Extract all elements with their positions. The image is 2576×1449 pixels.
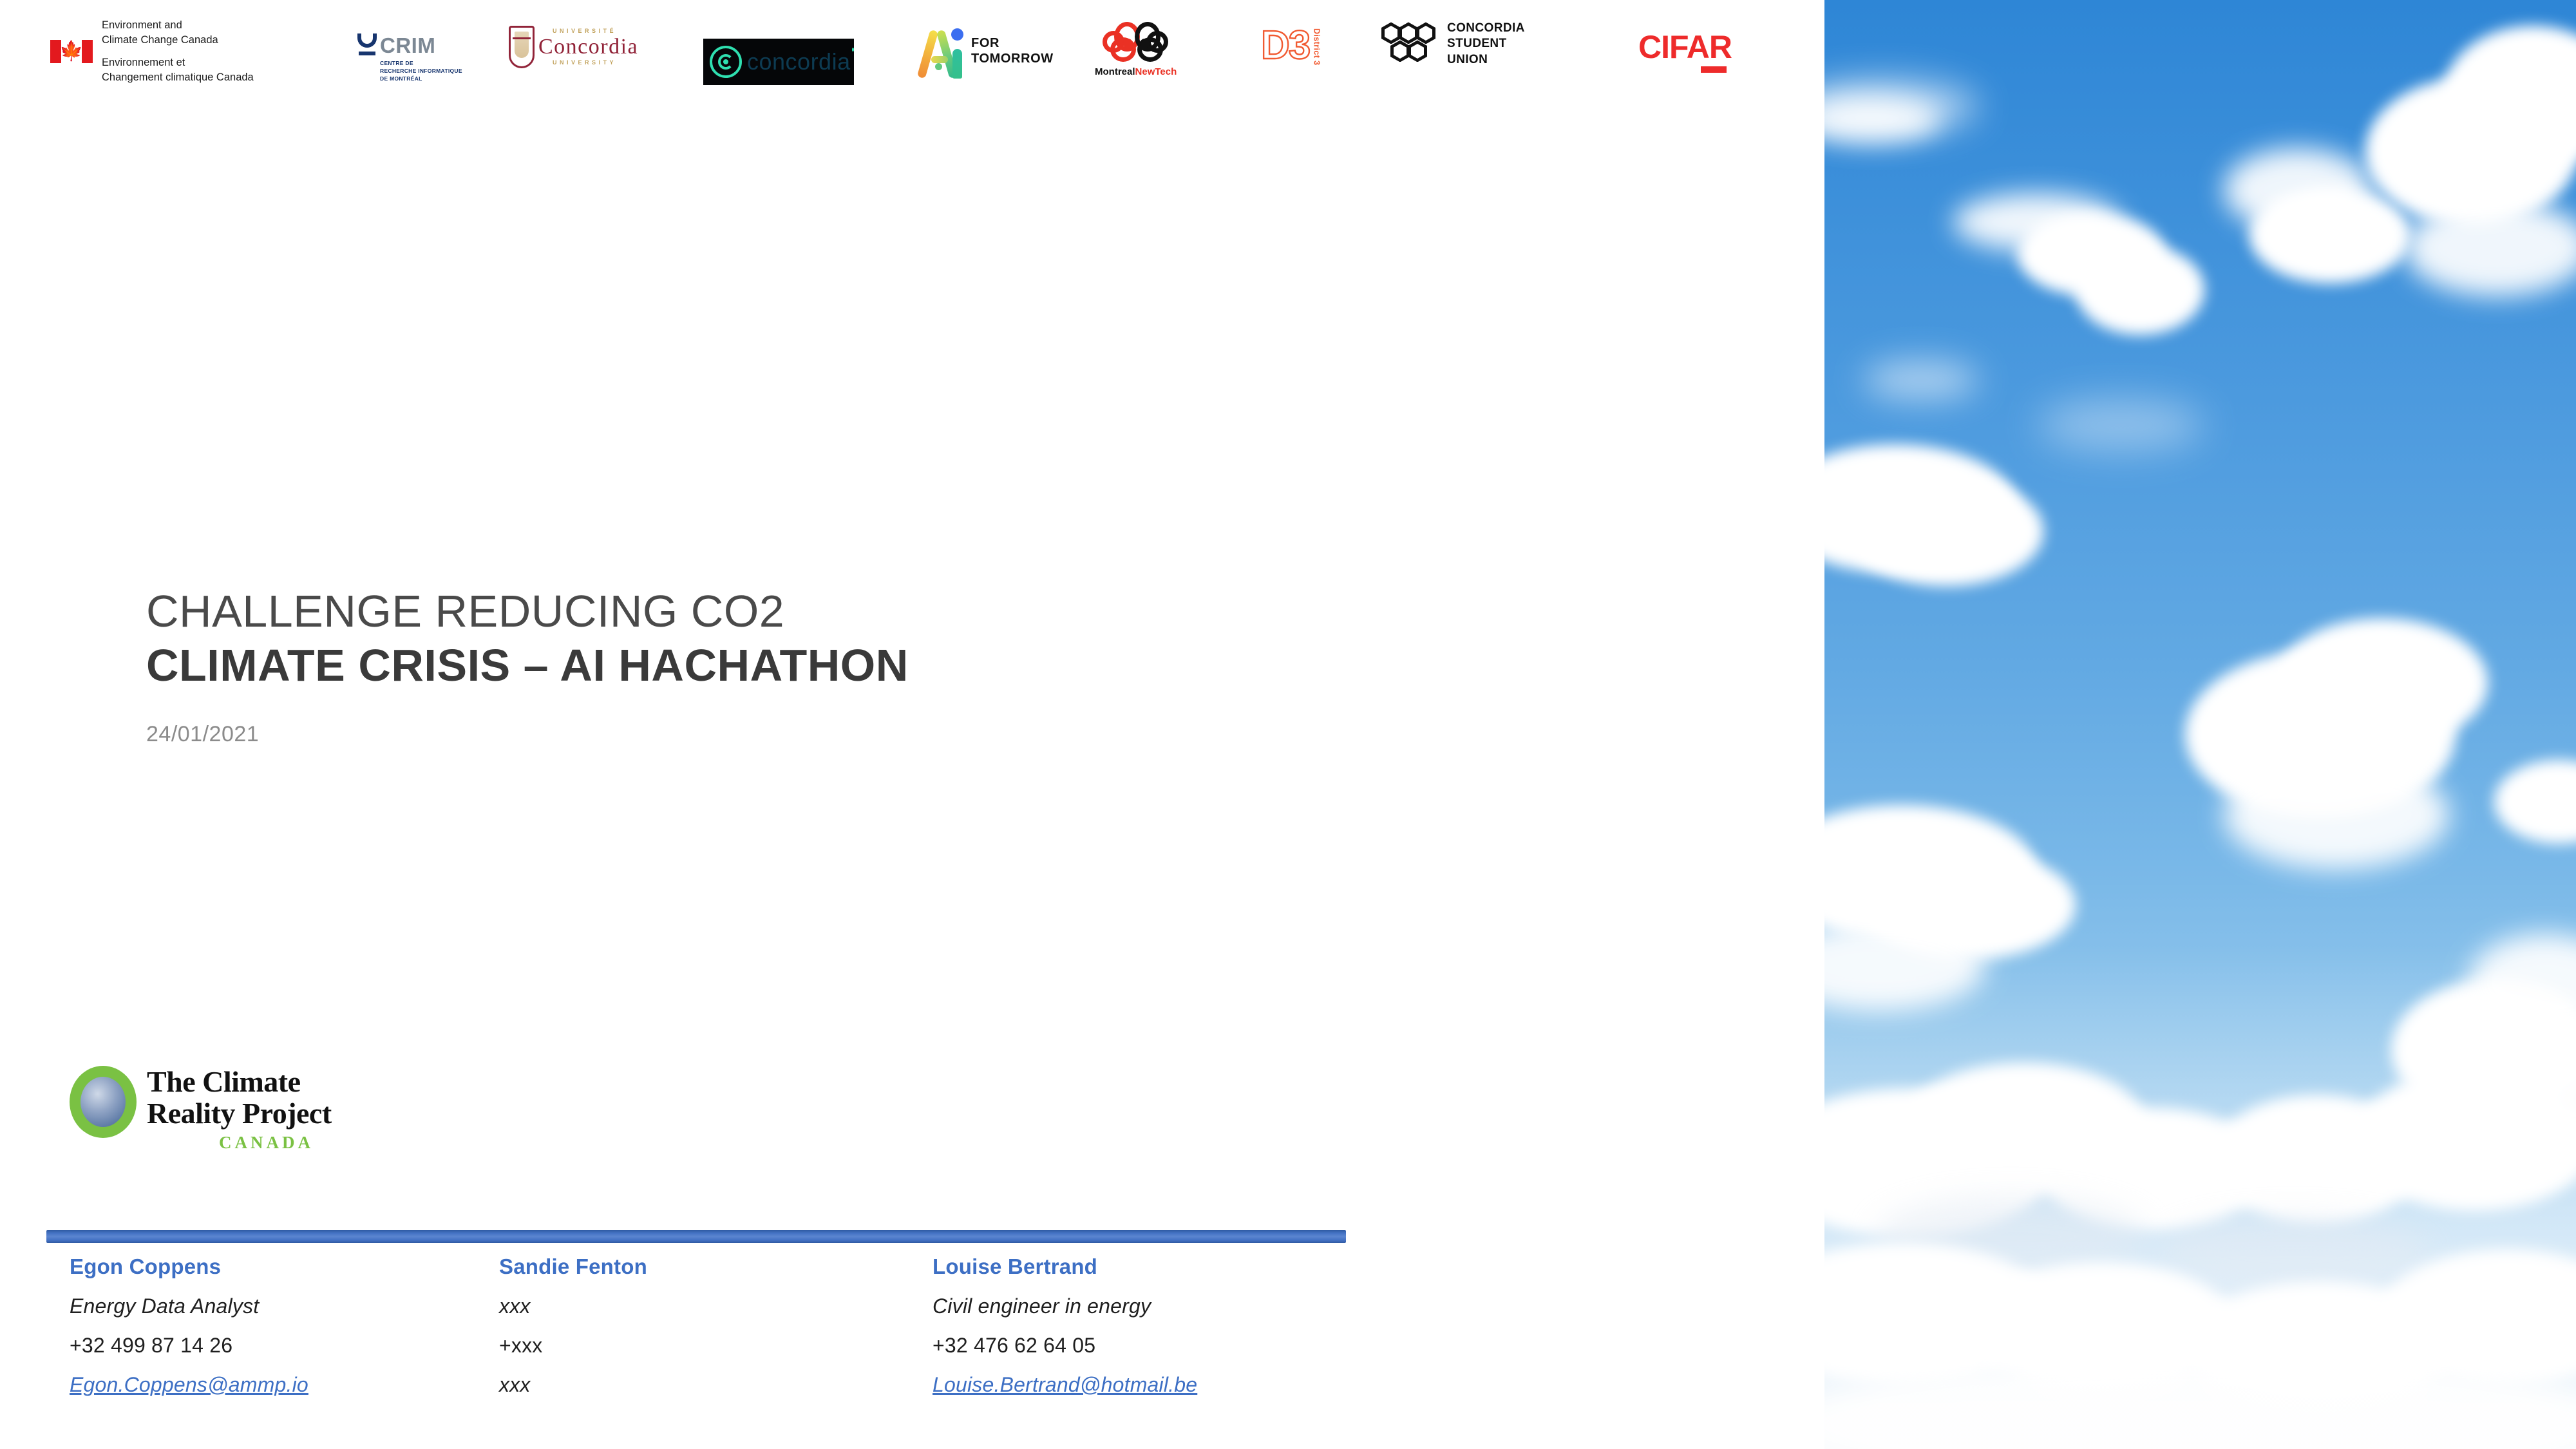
cloud-wisp <box>2037 399 2204 451</box>
concordia-kicker: UNIVERSITÉ <box>553 28 638 34</box>
crim-wordmark: CRIM <box>380 35 435 55</box>
crim-lockup: CRIM <box>357 33 435 55</box>
concordia-name: Concordia <box>538 36 638 58</box>
climate-reality-line-2: Reality Project <box>147 1097 332 1129</box>
presentation-slide: 🍁 Environment and Climate Change Canada … <box>0 0 2576 1449</box>
cifar-underline-icon <box>1701 66 1727 73</box>
concordia-footer: UNIVERSITY <box>553 60 638 66</box>
csu-line-3: UNION <box>1447 52 1525 68</box>
cloud-shape <box>2224 760 2449 869</box>
contact-card: Sandie Fenton xxx +xxx xxx <box>499 1255 647 1397</box>
crim-u-mark-icon <box>357 33 377 55</box>
cifar-wordmark: CIFAR <box>1638 31 1732 63</box>
cloud-shape <box>2494 760 2576 844</box>
slide-title-line-1: CHALLENGE REDUCING CO2 <box>146 586 909 636</box>
logo-crim: CRIM CENTRE DE RECHERCHE INFORMATIQUE DE… <box>357 33 462 82</box>
contact-name: Sandie Fenton <box>499 1255 647 1279</box>
concordia-accent-dot-icon <box>852 48 854 52</box>
montreal-newtech-word-a: Montreal <box>1095 66 1135 77</box>
logo-concordia-university: UNIVERSITÉ Concordia UNIVERSITY <box>509 26 638 68</box>
ai-for-tomorrow-line-1: FOR <box>971 36 1054 52</box>
logo-district-3: D3 District 3 <box>1261 26 1321 66</box>
csu-wordmark: CONCORDIA STUDENT UNION <box>1447 21 1525 68</box>
slide-date: 24/01/2021 <box>146 722 909 747</box>
eccc-line-4: Changement climatique Canada <box>102 70 254 85</box>
eccc-line-2: Climate Change Canada <box>102 33 254 48</box>
crim-tagline-line-3: DE MONTRÉAL <box>380 75 462 82</box>
climate-reality-wordmark: The Climate Reality Project CANADA <box>147 1066 332 1151</box>
eccc-wordmark: Environment and Climate Change Canada En… <box>102 18 254 86</box>
contact-role: Energy Data Analyst <box>70 1294 308 1318</box>
csu-line-1: CONCORDIA <box>1447 21 1525 36</box>
sponsor-logo-strip: 🍁 Environment and Climate Change Canada … <box>0 0 1824 122</box>
logo-montreal-newtech: MontrealNewTech <box>1095 21 1177 77</box>
cloud-shape <box>2249 187 2410 283</box>
cloud-wisp <box>1863 361 1979 399</box>
contact-role: Civil engineer in energy <box>933 1294 1197 1318</box>
cloud-shape <box>2076 245 2204 335</box>
crim-tagline: CENTRE DE RECHERCHE INFORMATIQUE DE MONT… <box>380 59 462 82</box>
contact-phone: +xxx <box>499 1334 647 1358</box>
climate-reality-country: CANADA <box>219 1134 332 1151</box>
logo-ai-for-tomorrow: FOR TOMORROW <box>921 24 1054 79</box>
concordia-wordmark: UNIVERSITÉ Concordia UNIVERSITY <box>538 28 638 66</box>
crim-tagline-line-1: CENTRE DE <box>380 59 462 67</box>
district3-vertical-label: District 3 <box>1312 28 1321 66</box>
contact-email: xxx <box>499 1373 531 1397</box>
logo-concordia-student-union: CONCORDIA STUDENT UNION <box>1381 21 1525 68</box>
cloud-shape <box>2275 618 2488 747</box>
cloud-shape <box>2404 200 2576 296</box>
eccc-line-3: Environnement et <box>102 55 254 70</box>
contact-card: Louise Bertrand Civil engineer in energy… <box>933 1255 1197 1397</box>
cloud-shadow <box>2159 1217 2430 1288</box>
globe-icon <box>70 1066 137 1138</box>
title-block: CHALLENGE REDUCING CO2 CLIMATE CRISIS – … <box>146 586 909 747</box>
sky-photo-panel <box>1824 0 2576 1449</box>
contact-email-link[interactable]: Egon.Coppens@ammp.io <box>70 1373 308 1397</box>
montreal-newtech-wordmark: MontrealNewTech <box>1095 66 1177 77</box>
contact-phone: +32 499 87 14 26 <box>70 1334 308 1358</box>
cloud-shape <box>1850 477 2043 586</box>
montreal-newtech-cloud-icon <box>1101 21 1171 64</box>
logo-cifar: CIFAR <box>1638 31 1732 73</box>
canada-flag-icon: 🍁 <box>50 40 93 63</box>
contact-name: Louise Bertrand <box>933 1255 1197 1279</box>
montreal-newtech-word-b: NewTech <box>1135 66 1177 77</box>
slide-title-line-2: CLIMATE CRISIS – AI HACHATHON <box>146 640 909 690</box>
csu-line-2: STUDENT <box>1447 36 1525 52</box>
contacts-row: Egon Coppens Energy Data Analyst +32 499… <box>0 1255 1824 1422</box>
logo-climate-reality-project: The Climate Reality Project CANADA <box>70 1066 332 1151</box>
concordia-black-wordmark: concordia <box>747 50 851 73</box>
ai-monogram-icon <box>921 24 966 79</box>
ai-for-tomorrow-line-2: TOMORROW <box>971 52 1054 67</box>
concordia-circle-icon <box>710 46 742 78</box>
contact-role: xxx <box>499 1294 647 1318</box>
contact-divider-rule <box>46 1230 1346 1243</box>
contact-email-link[interactable]: Louise.Bertrand@hotmail.be <box>933 1373 1197 1397</box>
contact-phone: +32 476 62 64 05 <box>933 1334 1197 1358</box>
logo-concordia-black: concordia <box>703 39 854 85</box>
maple-leaf-icon: 🍁 <box>59 42 83 61</box>
climate-reality-line-1: The Climate <box>147 1066 332 1097</box>
eccc-line-1: Environment and <box>102 18 254 33</box>
contact-card: Egon Coppens Energy Data Analyst +32 499… <box>70 1255 308 1397</box>
crim-tagline-line-2: RECHERCHE INFORMATIQUE <box>380 67 462 75</box>
contact-name: Egon Coppens <box>70 1255 308 1279</box>
concordia-shield-icon <box>509 26 535 68</box>
ai-for-tomorrow-wordmark: FOR TOMORROW <box>971 36 1054 66</box>
district3-wordmark: D3 <box>1261 26 1309 66</box>
logo-environment-climate-change-canada: 🍁 Environment and Climate Change Canada … <box>50 18 254 86</box>
honeycomb-icon <box>1381 21 1439 67</box>
